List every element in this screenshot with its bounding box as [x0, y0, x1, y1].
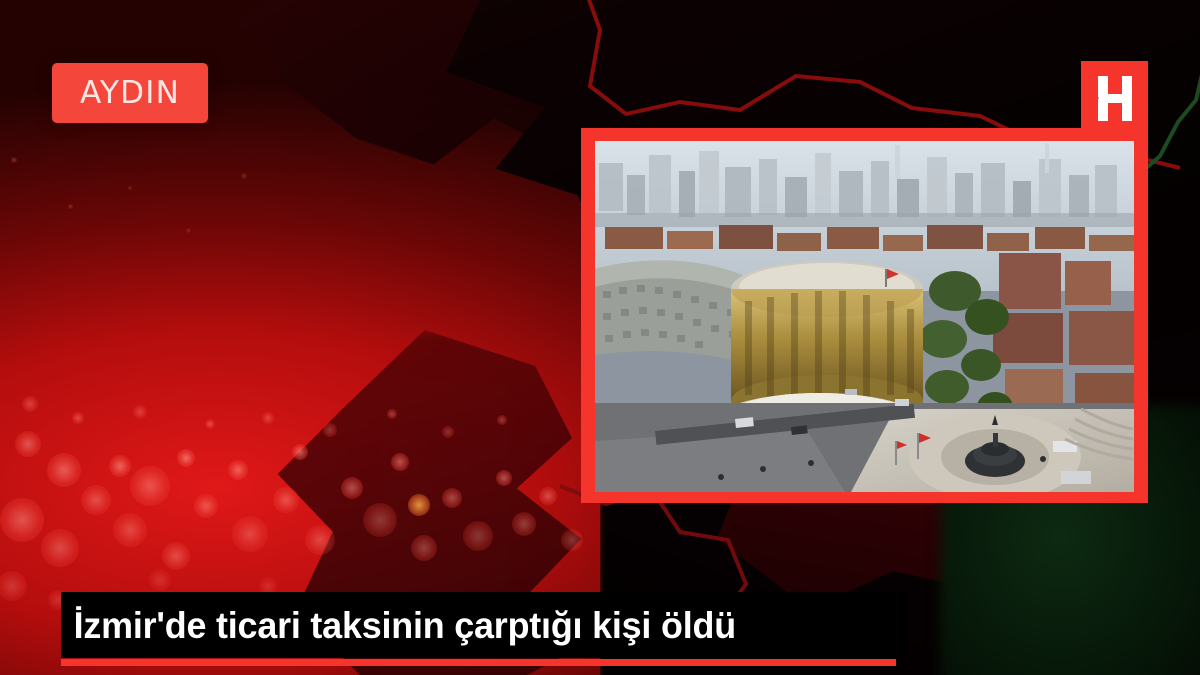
headline-bar: İzmir'de ticari taksinin çarptığı kişi ö… — [61, 592, 907, 658]
aerial-cityscape-illustration — [595, 141, 1134, 492]
photo-frame — [581, 128, 1148, 503]
city-badge-label: AYDIN — [80, 75, 180, 111]
city-badge[interactable]: AYDIN — [52, 63, 208, 123]
photo-image — [595, 141, 1134, 492]
logo-h-icon — [1098, 76, 1132, 121]
headline-underline — [61, 659, 896, 666]
news-card-stage: AYDIN — [0, 0, 1200, 675]
headline-text: İzmir'de ticari taksinin çarptığı kişi ö… — [61, 607, 736, 644]
haberler-logo[interactable] — [1081, 61, 1148, 135]
